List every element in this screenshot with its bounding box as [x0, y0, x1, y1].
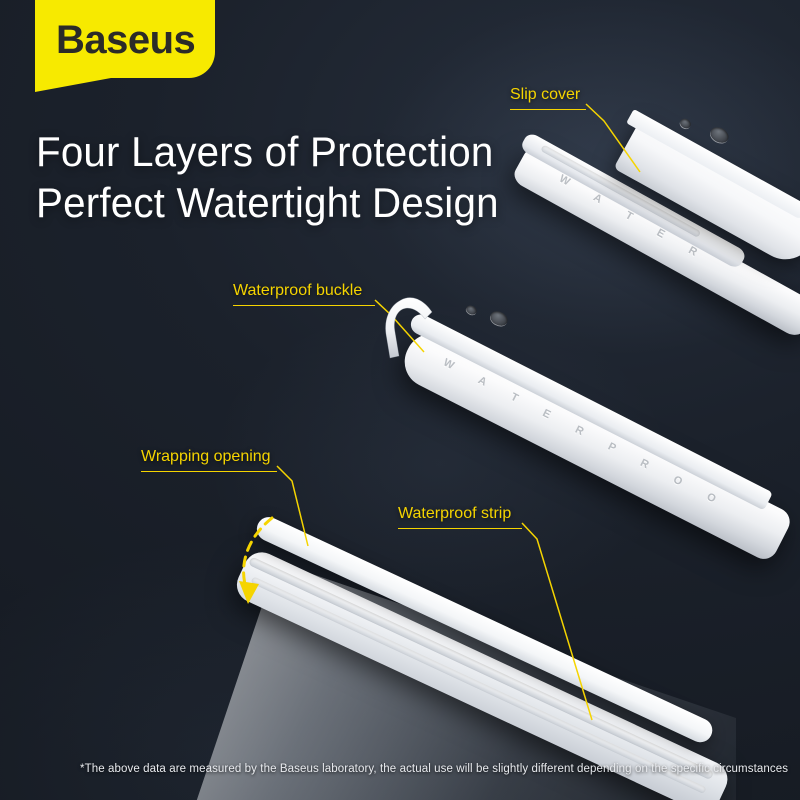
callout-waterproof-buckle-underline: [233, 305, 375, 307]
page-title: Four Layers of Protection Perfect Watert…: [36, 126, 499, 228]
brand-name: Baseus: [56, 20, 195, 60]
callout-slip-cover[interactable]: Slip cover: [510, 86, 586, 110]
headline-line-2: Perfect Watertight Design: [36, 177, 499, 228]
callout-waterproof-strip-underline: [398, 528, 522, 530]
callout-waterproof-strip-label: Waterproof strip: [398, 505, 522, 523]
lanyard-hole-small-middle: [465, 304, 478, 316]
lanyard-hole-large-top: [708, 124, 731, 145]
callout-wrapping-opening-label: Wrapping opening: [141, 448, 277, 466]
callout-waterproof-strip[interactable]: Waterproof strip: [398, 505, 522, 529]
lanyard-hole-large-middle: [488, 309, 510, 329]
callout-slip-cover-underline: [510, 109, 586, 111]
callout-wrapping-opening-underline: [141, 471, 277, 473]
product-bottom-opening: [236, 498, 796, 798]
callout-waterproof-buckle[interactable]: Waterproof buckle: [233, 282, 375, 306]
footer-disclaimer: *The above data are measured by the Base…: [80, 763, 788, 775]
callout-wrapping-opening[interactable]: Wrapping opening: [141, 448, 277, 472]
seal-bar-lip-middle: [407, 311, 772, 510]
callout-slip-cover-label: Slip cover: [510, 86, 586, 104]
headline-line-1: Four Layers of Protection: [36, 126, 499, 177]
lanyard-hole-small-top: [679, 117, 693, 130]
callout-waterproof-buckle-label: Waterproof buckle: [233, 282, 375, 300]
product-top-slip-cover: W A T E R: [520, 96, 800, 326]
poster-canvas: W A T E R W A T E R P R O O: [0, 0, 800, 800]
